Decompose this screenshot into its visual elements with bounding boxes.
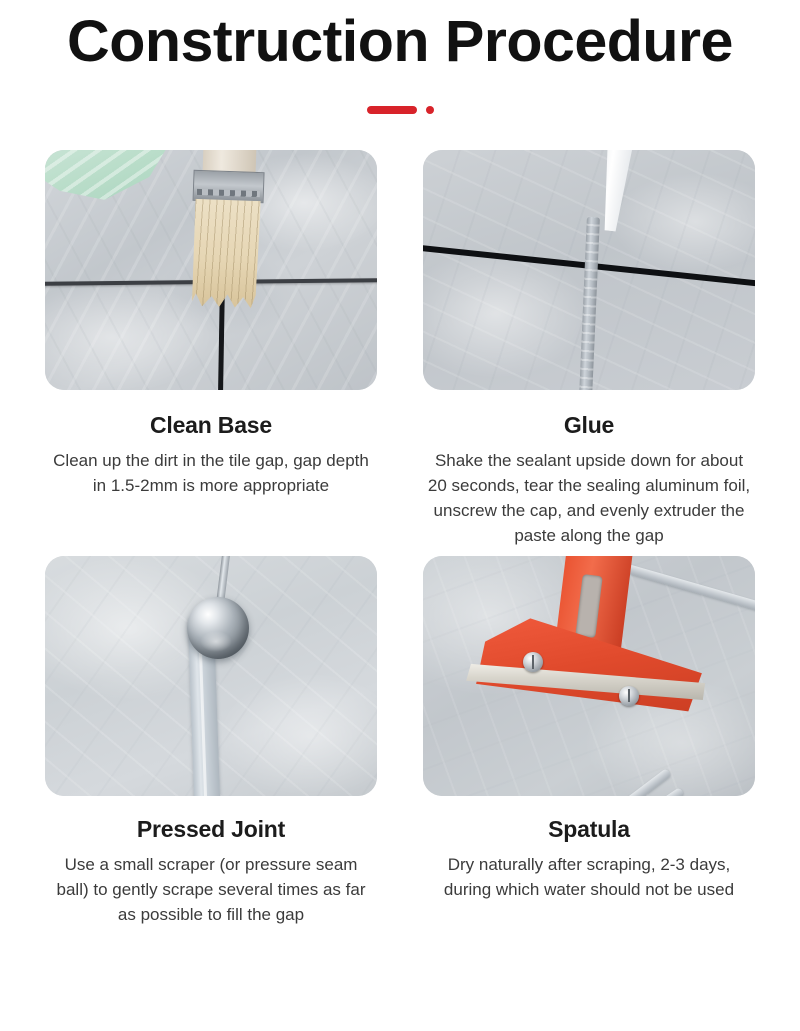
step-card-glue: Glue Shake the sealant upside down for a… (423, 150, 755, 548)
step-image-pressed-joint (45, 556, 377, 796)
scraper-screw (619, 686, 639, 706)
brush-bristles (192, 199, 261, 309)
construction-procedure-page: Construction Procedure C (0, 0, 800, 1031)
divider-dot-icon (426, 106, 434, 114)
step-caption-spatula: Spatula Dry naturally after scraping, 2-… (423, 796, 755, 902)
step-description: Use a small scraper (or pressure seam ba… (45, 852, 377, 927)
step-title: Spatula (423, 814, 755, 844)
step-image-clean-base (45, 150, 377, 390)
step-description: Clean up the dirt in the tile gap, gap d… (45, 448, 377, 498)
scraper-screw (523, 652, 543, 672)
pressure-seam-ball-icon (187, 597, 249, 659)
steps-grid: Clean Base Clean up the dirt in the tile… (0, 150, 800, 927)
brush-ferrule (193, 170, 264, 203)
step-image-spatula (423, 556, 755, 796)
step-card-pressed-joint: Pressed Joint Use a small scraper (or pr… (45, 556, 377, 927)
step-card-spatula: Spatula Dry naturally after scraping, 2-… (423, 556, 755, 927)
step-description: Dry naturally after scraping, 2-3 days, … (423, 852, 755, 902)
title-divider (0, 104, 800, 116)
step-title: Glue (423, 410, 755, 440)
page-header: Construction Procedure (0, 0, 800, 116)
paint-brush-icon (188, 150, 268, 314)
step-caption-pressed-joint: Pressed Joint Use a small scraper (or pr… (45, 796, 377, 927)
step-image-glue (423, 150, 755, 390)
step-title: Clean Base (45, 410, 377, 440)
page-title: Construction Procedure (0, 8, 800, 76)
step-card-clean-base: Clean Base Clean up the dirt in the tile… (45, 150, 377, 548)
divider-bar-icon (367, 106, 417, 114)
step-caption-clean-base: Clean Base Clean up the dirt in the tile… (45, 390, 377, 498)
step-description: Shake the sealant upside down for about … (423, 448, 755, 548)
step-caption-glue: Glue Shake the sealant upside down for a… (423, 390, 755, 548)
step-title: Pressed Joint (45, 814, 377, 844)
